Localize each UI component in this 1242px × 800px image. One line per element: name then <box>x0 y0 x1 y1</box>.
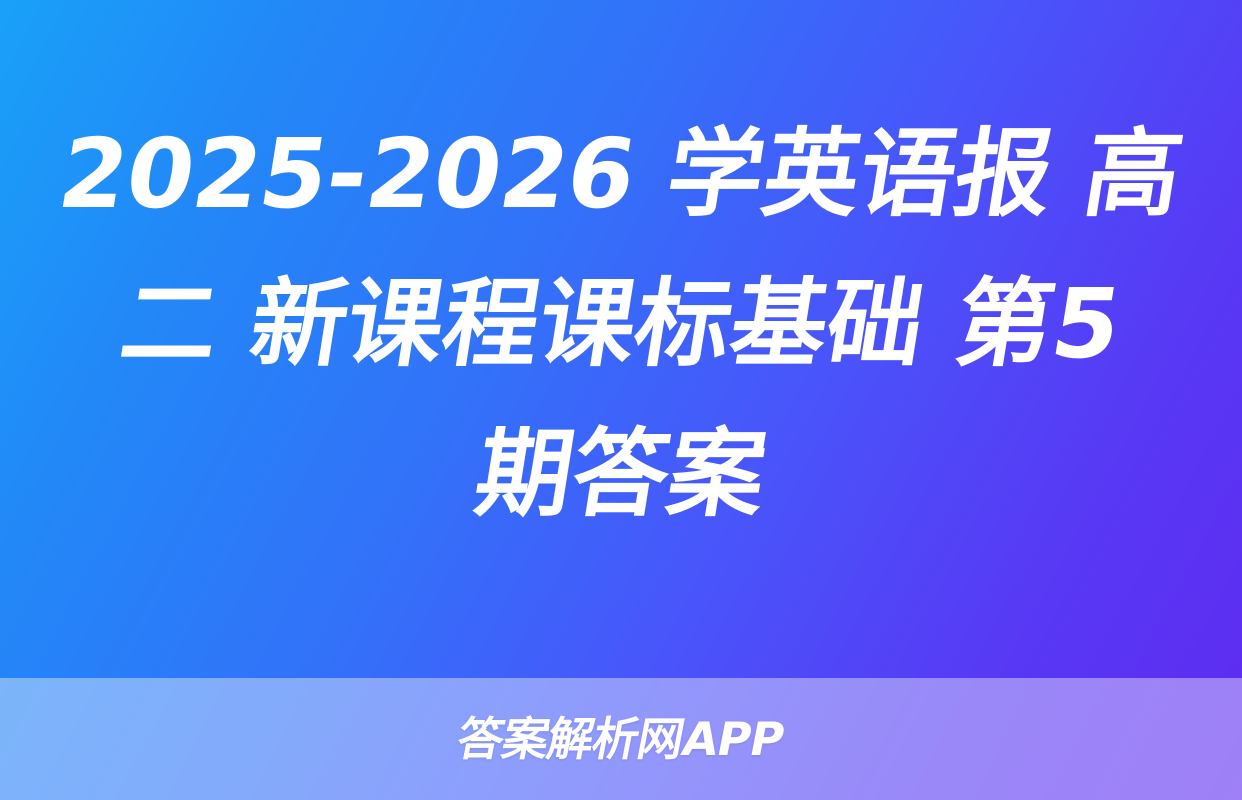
watermark-app-label: 答案解析网APP <box>454 716 788 762</box>
poster-canvas: 2025-2026 学英语报 高 二 新课程课标基础 第5 期答案 答案解析网A… <box>0 0 1242 800</box>
headline-block: 2025-2026 学英语报 高 二 新课程课标基础 第5 期答案 <box>0 0 1242 678</box>
watermark-banner: 答案解析网APP <box>0 678 1242 800</box>
title-line-3: 期答案 <box>48 399 1194 549</box>
title-line-1: 2025-2026 学英语报 高 <box>48 99 1194 249</box>
title-line-2: 二 新课程课标基础 第5 <box>48 249 1194 399</box>
